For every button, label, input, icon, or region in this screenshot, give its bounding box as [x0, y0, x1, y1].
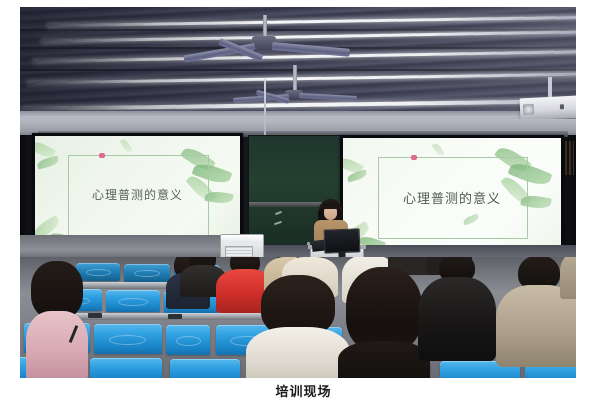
- person-torso: [418, 277, 496, 361]
- monitor: [324, 228, 361, 253]
- person-torso: [338, 341, 430, 378]
- audience-member: [26, 261, 88, 378]
- seat: [166, 325, 210, 355]
- seat: [90, 358, 162, 378]
- person-torso: [246, 327, 350, 378]
- seat-emblem: [118, 298, 148, 306]
- leaf-decoration: [120, 138, 133, 154]
- projector-mount: [548, 77, 552, 99]
- slide-accent-dot: [99, 153, 105, 158]
- audience-member: [246, 275, 350, 378]
- ac-top: [221, 235, 263, 243]
- seat: [170, 359, 240, 378]
- seat: [94, 324, 162, 354]
- leaf-decoration: [431, 142, 444, 158]
- seat-emblem: [134, 270, 160, 277]
- chalk-mark: [275, 211, 282, 215]
- presenter-fringe: [322, 202, 339, 209]
- hanging-cable: [264, 79, 266, 141]
- ceiling-fan: [235, 65, 355, 109]
- seat-emblem: [176, 336, 201, 346]
- seating-area: [20, 257, 576, 378]
- person-torso: [26, 311, 88, 378]
- slide-title-left: 心理普测的意义: [35, 186, 240, 203]
- slide-title-right: 心理普测的意义: [343, 188, 561, 207]
- slide-accent-dot: [411, 155, 417, 160]
- chalk-mark: [274, 221, 282, 225]
- audience-member: [418, 257, 496, 359]
- slide-right: 心理普测的意义: [343, 138, 561, 256]
- projection-screen-right: 心理普测的意义: [340, 135, 564, 259]
- phone-on-desk: [88, 313, 102, 318]
- leaf-decoration: [36, 155, 60, 169]
- person-torso: [560, 257, 576, 299]
- projector-vent: [560, 104, 564, 109]
- audience-member: [560, 257, 576, 297]
- phone-on-desk: [168, 314, 182, 319]
- seat: [124, 264, 170, 282]
- seat: [106, 290, 160, 312]
- projector-lens: [523, 104, 535, 116]
- document-page: 心理普测的意义 心理普测的意义: [0, 0, 607, 413]
- photo-caption: 培训现场: [0, 381, 607, 400]
- seat-emblem: [86, 269, 111, 276]
- fan-blade: [299, 93, 357, 101]
- seat-emblem: [109, 335, 146, 345]
- audience-member: [120, 257, 146, 261]
- training-site-photo: 心理普测的意义 心理普测的意义: [20, 7, 576, 378]
- audience-member: [338, 267, 430, 378]
- fan-rod: [263, 15, 267, 37]
- fan-rod: [293, 65, 297, 91]
- projector-icon: [519, 95, 576, 120]
